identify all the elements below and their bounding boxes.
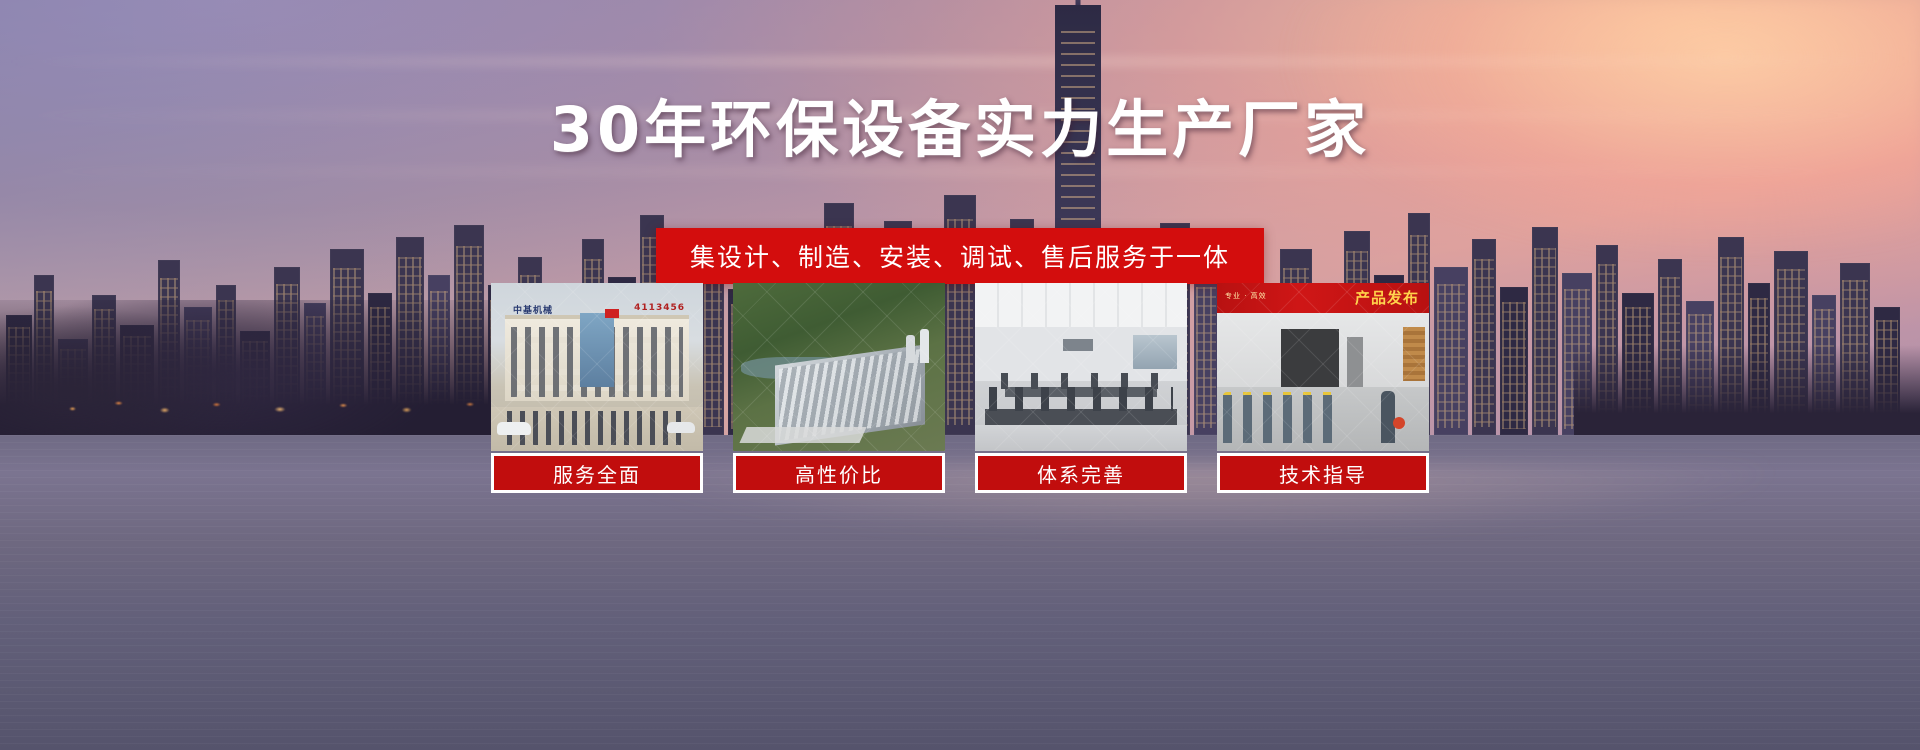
- page-title: 30年环保设备实力生产厂家: [0, 96, 1920, 164]
- feature-card[interactable]: 技术指导: [1217, 283, 1429, 493]
- feature-card-label: 服务全面: [491, 453, 703, 493]
- cloud-band: [0, 168, 1920, 175]
- subtitle-banner: 集设计、制造、安装、调试、售后服务于一体: [656, 228, 1264, 284]
- feature-card-label: 技术指导: [1217, 453, 1429, 493]
- aerial-factory-photo: [733, 283, 945, 451]
- flag-icon: [605, 309, 619, 318]
- feature-card[interactable]: 体系完善: [975, 283, 1187, 493]
- building-sign-text: 中基机械: [513, 303, 553, 316]
- feature-card[interactable]: 中基机械 4113456 服务全面: [491, 283, 703, 493]
- feature-card-label: 体系完善: [975, 453, 1187, 493]
- feature-card[interactable]: 高性价比: [733, 283, 945, 493]
- office-building-photo: 中基机械 4113456: [491, 283, 703, 451]
- workshop-workers-photo: [1217, 283, 1429, 451]
- feature-card-list: 中基机械 4113456 服务全面 高性价比 体系完善: [491, 283, 1429, 493]
- office-interior-photo: [975, 283, 1187, 451]
- cloud-band: [0, 58, 1920, 65]
- feature-card-label: 高性价比: [733, 453, 945, 493]
- building-phone-text: 4113456: [634, 303, 685, 313]
- hero-banner: 30年环保设备实力生产厂家 集设计、制造、安装、调试、售后服务于一体 中基机械 …: [0, 0, 1920, 750]
- workshop-banner: [1217, 283, 1429, 313]
